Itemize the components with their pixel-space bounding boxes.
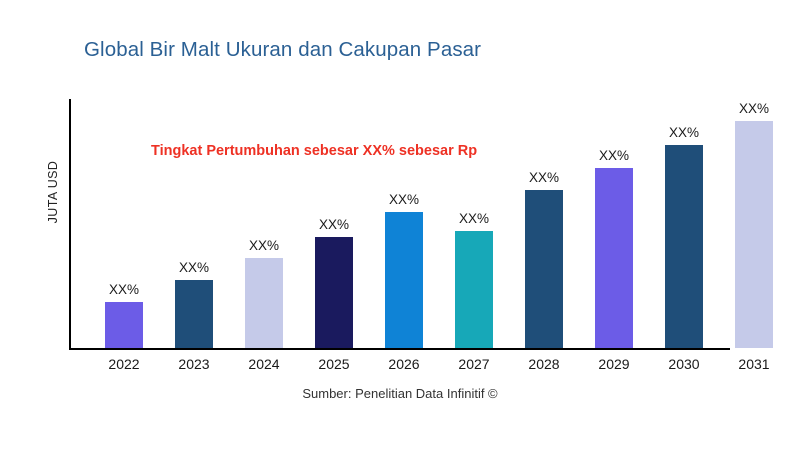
x-tick-label-2024: 2024 xyxy=(229,356,299,372)
bar-group[interactable]: XX% xyxy=(159,88,229,348)
bars-layer: XX%2022XX%2023XX%2024XX%2025XX%2026XX%20… xyxy=(0,0,800,450)
bar-group[interactable]: XX% xyxy=(719,88,789,348)
bar-group[interactable]: XX% xyxy=(369,88,439,348)
bar-2028[interactable] xyxy=(525,190,563,348)
bar-group[interactable]: XX% xyxy=(509,88,579,348)
bar-value-label-2031: XX% xyxy=(719,101,789,116)
bar-2030[interactable] xyxy=(665,145,703,348)
x-tick-label-2025: 2025 xyxy=(299,356,369,372)
x-tick-label-2029: 2029 xyxy=(579,356,649,372)
x-tick-label-2031: 2031 xyxy=(719,356,789,372)
bar-value-label-2023: XX% xyxy=(159,260,229,275)
bar-value-label-2022: XX% xyxy=(89,282,159,297)
bar-2023[interactable] xyxy=(175,280,213,348)
bar-group[interactable]: XX% xyxy=(579,88,649,348)
bar-2031[interactable] xyxy=(735,121,773,348)
bar-2024[interactable] xyxy=(245,258,283,348)
bar-group[interactable]: XX% xyxy=(89,88,159,348)
bar-value-label-2029: XX% xyxy=(579,148,649,163)
bar-2029[interactable] xyxy=(595,168,633,348)
bar-value-label-2027: XX% xyxy=(439,211,509,226)
bar-2022[interactable] xyxy=(105,302,143,348)
bar-value-label-2030: XX% xyxy=(649,125,719,140)
bar-value-label-2028: XX% xyxy=(509,170,579,185)
bar-value-label-2025: XX% xyxy=(299,217,369,232)
bar-2025[interactable] xyxy=(315,237,353,348)
bar-value-label-2026: XX% xyxy=(369,192,439,207)
bar-group[interactable]: XX% xyxy=(649,88,719,348)
x-tick-label-2028: 2028 xyxy=(509,356,579,372)
bar-2027[interactable] xyxy=(455,231,493,348)
bar-value-label-2024: XX% xyxy=(229,238,299,253)
bar-group[interactable]: XX% xyxy=(229,88,299,348)
bar-group[interactable]: XX% xyxy=(299,88,369,348)
x-tick-label-2023: 2023 xyxy=(159,356,229,372)
bar-2026[interactable] xyxy=(385,212,423,348)
source-note: Sumber: Penelitian Data Infinitif © xyxy=(0,386,800,401)
bar-group[interactable]: XX% xyxy=(439,88,509,348)
x-tick-label-2026: 2026 xyxy=(369,356,439,372)
x-tick-label-2022: 2022 xyxy=(89,356,159,372)
chart-container: Global Bir Malt Ukuran dan Cakupan Pasar… xyxy=(0,0,800,450)
x-tick-label-2027: 2027 xyxy=(439,356,509,372)
x-tick-label-2030: 2030 xyxy=(649,356,719,372)
